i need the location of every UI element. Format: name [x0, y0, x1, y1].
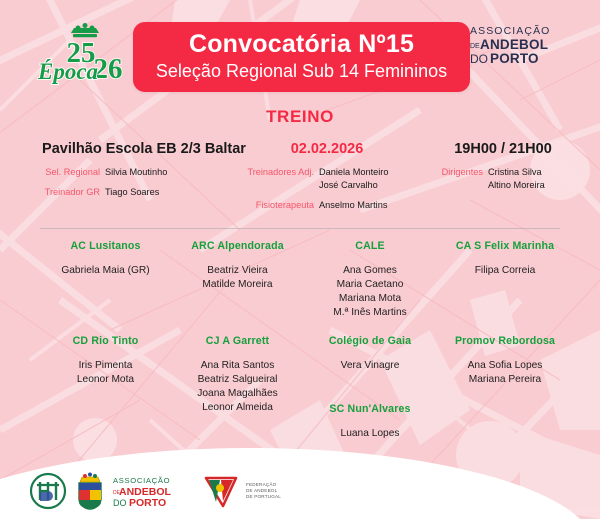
staff-role-label [232, 179, 314, 192]
staff-group-spacer [32, 179, 247, 186]
club-player-list: Iris PimentaLeonor Mota [38, 359, 173, 387]
epoca-25-26-logo: 25 26 Época [30, 22, 138, 88]
fap-line3: DE PORTUGAL [246, 494, 281, 500]
event-time: 19H00 / 21H00 [418, 141, 588, 157]
aap-top-line2: ANDEBOL [480, 37, 548, 52]
club-name: CD Rio Tinto [38, 335, 173, 347]
staff-person-name: Tiago Soares [105, 186, 159, 199]
club-name: CJ A Garrett [165, 335, 310, 347]
staff-role-label: Dirigentes [425, 166, 483, 179]
player-name: Ana Gomes [300, 264, 440, 278]
club-block: CALEAna GomesMaria CaetanoMariana MotaM.… [300, 240, 440, 320]
club-block: CA S Felix MarinhaFilipa Correia [430, 240, 580, 278]
player-name: Leonor Mota [38, 373, 173, 387]
player-name: Joana Magalhães [165, 387, 310, 401]
staff-person-name: Altino Moreira [488, 179, 545, 192]
player-name: Luana Lopes [300, 427, 440, 441]
player-name: Beatriz Salgueiral [165, 373, 310, 387]
club-player-list: Beatriz VieiraMatilde Moreira [165, 264, 310, 292]
staff-role-label: Fisioterapeuta [232, 199, 314, 212]
club-block: AC LusitanosGabriela Maia (GR) [38, 240, 173, 278]
staff-role-label: Treinadores Adj. [232, 166, 314, 179]
staff-person-name: José Carvalho [319, 179, 378, 192]
club-name: Promov Rebordosa [430, 335, 580, 347]
footer-aap-line3: PORTO [129, 497, 166, 508]
staff-person-name: Silvia Moutinho [105, 166, 167, 179]
staff-line: Treinador GRTiago Soares [32, 186, 247, 199]
staff-person-name: Cristina Silva [488, 166, 542, 179]
season-word: Época [37, 59, 98, 84]
staff-role-label: Sel. Regional [32, 166, 100, 179]
player-name: Matilde Moreira [165, 278, 310, 292]
club-player-list: Filipa Correia [430, 264, 580, 278]
player-name: Beatriz Vieira [165, 264, 310, 278]
club-name: ARC Alpendorada [165, 240, 310, 252]
porto-crest-icon [75, 471, 105, 511]
player-name: M.ª Inês Martins [300, 306, 440, 320]
player-name: Ana Rita Santos [165, 359, 310, 373]
event-info-row: Pavilhão Escola EB 2/3 Baltar 02.02.2026… [0, 136, 600, 216]
player-name: Mariana Pereira [430, 373, 580, 387]
player-name: Vera Vinagre [300, 359, 440, 373]
page-subtitle: Seleção Regional Sub 14 Femininos [156, 61, 447, 83]
staff-group-left: Sel. RegionalSilvia MoutinhoTreinador GR… [32, 166, 247, 199]
section-label: TREINO [0, 107, 600, 127]
poster-canvas: 25 26 Época ASSOCIAÇÃO DE ANDEBOL DO POR… [0, 0, 600, 519]
club-block: Colégio de GaiaVera Vinagre [300, 335, 440, 373]
aap-top-do: DO [470, 52, 488, 66]
club-name: AC Lusitanos [38, 240, 173, 252]
associacao-andebol-porto-logo-top: ASSOCIAÇÃO DE ANDEBOL DO PORTO [466, 22, 584, 68]
club-name: SC Nun'Alvares [300, 403, 440, 415]
staff-line: DirigentesCristina Silva [425, 166, 585, 179]
player-name: Leonor Almeida [165, 401, 310, 415]
club-block: CD Rio TintoIris PimentaLeonor Mota [38, 335, 173, 387]
section-divider [40, 228, 560, 229]
fap-line1: FEDERAÇÃO [246, 482, 281, 488]
club-player-list: Ana Rita SantosBeatriz SalgueiralJoana M… [165, 359, 310, 415]
player-name: Mariana Mota [300, 292, 440, 306]
page-title: Convocatória Nº15 [189, 31, 414, 57]
aap-shield-icon [28, 471, 68, 511]
aap-top-line3: PORTO [490, 51, 539, 66]
event-venue: Pavilhão Escola EB 2/3 Baltar [28, 141, 260, 157]
staff-line: Altino Moreira [425, 179, 585, 192]
staff-line: FisioterapeutaAnselmo Martins [232, 199, 412, 212]
club-block: ARC AlpendoradaBeatriz VieiraMatilde Mor… [165, 240, 310, 292]
player-name: Ana Sofia Lopes [430, 359, 580, 373]
associacao-andebol-porto-logo-footer: ASSOCIAÇÃO DE ANDEBOL DO PORTO [112, 474, 196, 508]
club-player-list: Vera Vinagre [300, 359, 440, 373]
footer-aap-do: DO [113, 498, 127, 508]
player-name: Filipa Correia [430, 264, 580, 278]
club-player-list: Ana GomesMaria CaetanoMariana MotaM.ª In… [300, 264, 440, 320]
club-name: Colégio de Gaia [300, 335, 440, 347]
footer-aap-line1: ASSOCIAÇÃO [113, 476, 170, 485]
staff-line: José Carvalho [232, 179, 412, 192]
staff-role-label: Treinador GR [32, 186, 100, 199]
staff-person-name: Anselmo Martins [319, 199, 387, 212]
club-player-list: Ana Sofia LopesMariana Pereira [430, 359, 580, 387]
aap-top-line1: ASSOCIAÇÃO [470, 24, 550, 37]
staff-role-label [425, 179, 483, 192]
footer-logos: ASSOCIAÇÃO DE ANDEBOL DO PORTO FEDERAÇÃO… [28, 470, 281, 512]
club-block: Promov RebordosaAna Sofia LopesMariana P… [430, 335, 580, 387]
federacao-andebol-portugal-icon [203, 473, 239, 509]
club-name: CA S Felix Marinha [430, 240, 580, 252]
player-name: Maria Caetano [300, 278, 440, 292]
staff-group-right: DirigentesCristina SilvaAltino Moreira [425, 166, 585, 192]
staff-person-name: Daniela Monteiro [319, 166, 388, 179]
player-name: Iris Pimenta [38, 359, 173, 373]
federacao-andebol-portugal-text: FEDERAÇÃO DE ANDEBOL DE PORTUGAL [246, 482, 281, 501]
event-date: 02.02.2026 [262, 141, 392, 157]
staff-line: Sel. RegionalSilvia Moutinho [32, 166, 247, 179]
player-name: Gabriela Maia (GR) [38, 264, 173, 278]
club-name: CALE [300, 240, 440, 252]
aap-top-de: DE [470, 43, 480, 50]
staff-group-spacer [232, 192, 412, 199]
club-player-list: Gabriela Maia (GR) [38, 264, 173, 278]
staff-line: Treinadores Adj.Daniela Monteiro [232, 166, 412, 179]
club-block: SC Nun'AlvaresLuana Lopes [300, 403, 440, 441]
club-block: CJ A GarrettAna Rita SantosBeatriz Salgu… [165, 335, 310, 415]
title-card: Convocatória Nº15 Seleção Regional Sub 1… [133, 22, 470, 92]
club-player-list: Luana Lopes [300, 427, 440, 441]
staff-group-middle: Treinadores Adj.Daniela MonteiroJosé Car… [232, 166, 412, 212]
